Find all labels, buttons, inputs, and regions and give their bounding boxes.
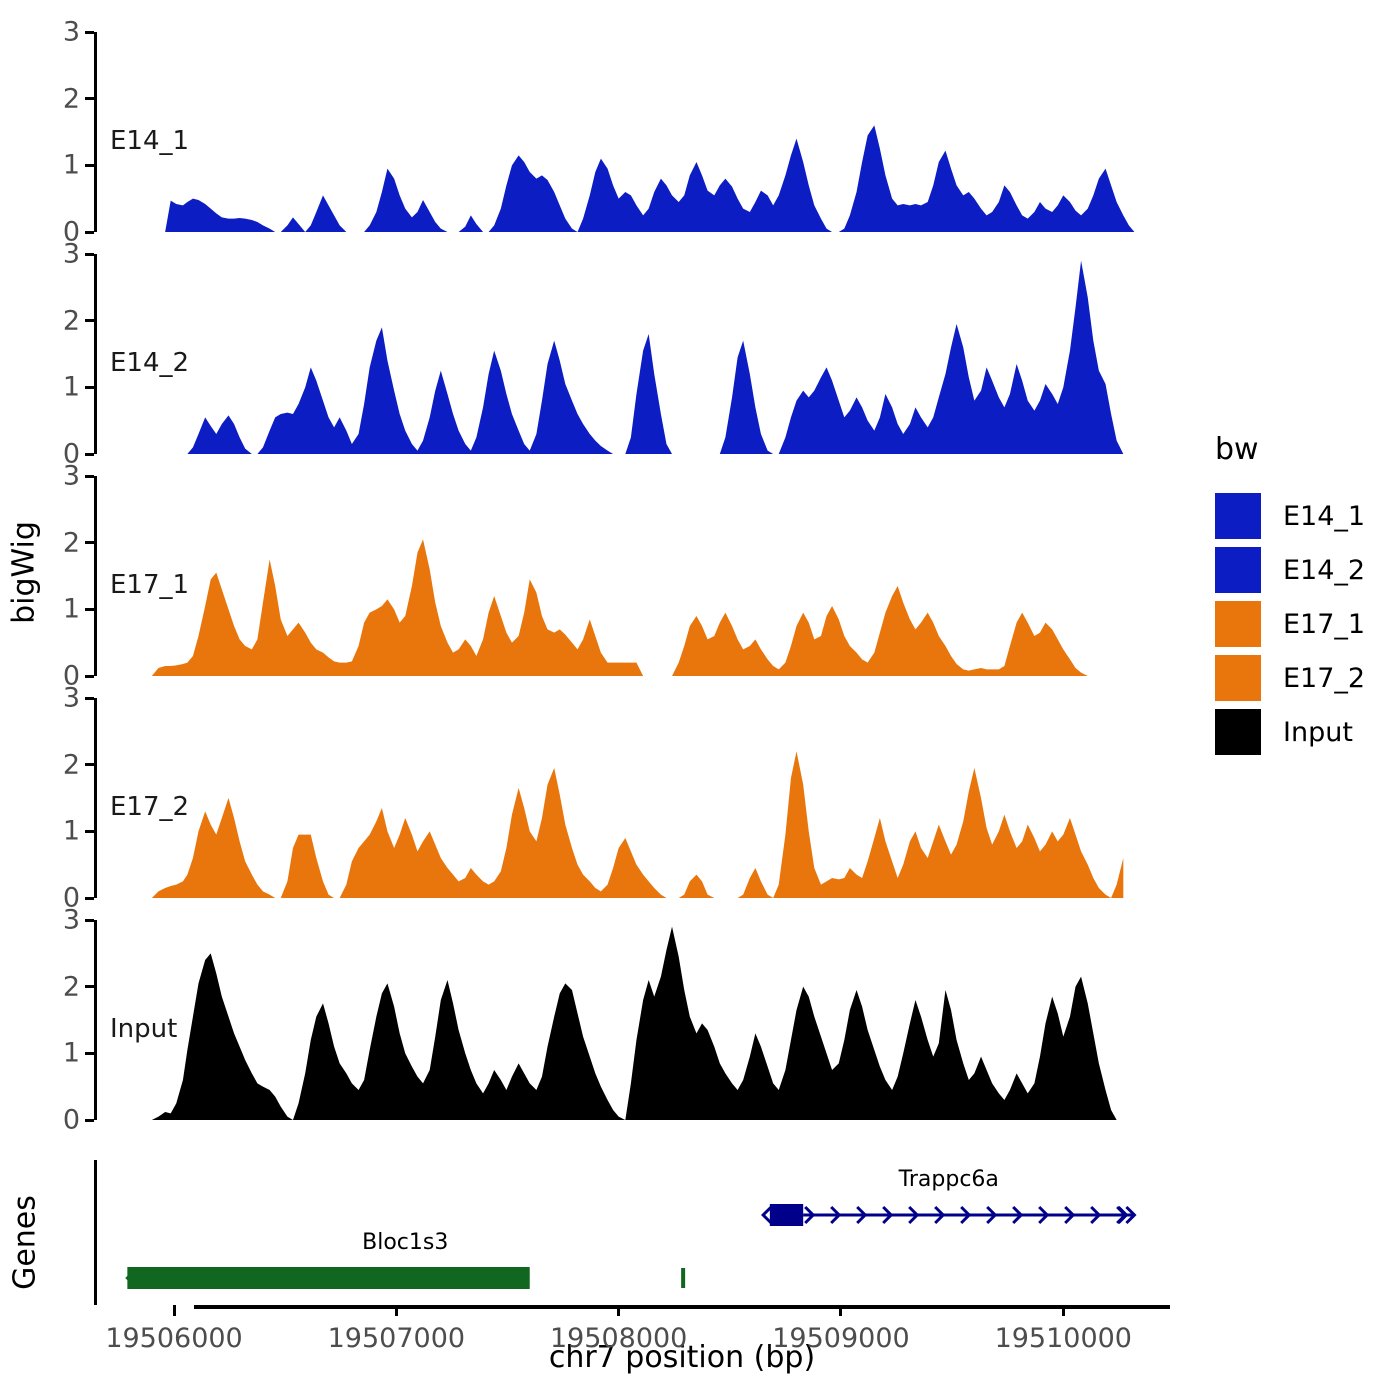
y-tick — [85, 763, 94, 766]
y-tick — [85, 453, 94, 456]
y-tick-label: 2 — [63, 749, 80, 780]
y-tick-label: 2 — [63, 305, 80, 336]
y-tick-label: 3 — [63, 905, 80, 936]
y-tick-label: 0 — [63, 1105, 80, 1136]
y-tick-label: 2 — [63, 527, 80, 558]
x-tick — [617, 1305, 620, 1316]
y-tick — [85, 164, 94, 167]
legend-swatch — [1215, 709, 1261, 755]
legend-title: bw — [1215, 432, 1365, 467]
y-tick — [85, 31, 94, 34]
signal-area-e17_1 — [94, 476, 1170, 676]
legend-swatch — [1215, 493, 1261, 539]
legend-swatch — [1215, 601, 1261, 647]
y-tick — [85, 253, 94, 256]
track-panel-e14_1: 0123E14_1 — [94, 32, 1170, 232]
y-tick-label: 3 — [63, 17, 80, 48]
legend-label: E14_2 — [1283, 555, 1365, 586]
y-tick — [85, 319, 94, 322]
y-tick — [85, 1052, 94, 1055]
y-axis-title-genes: Genes — [8, 1178, 43, 1308]
x-tick — [173, 1305, 176, 1316]
x-tick-label: 19508000 — [550, 1323, 687, 1354]
y-tick — [85, 386, 94, 389]
y-tick — [85, 830, 94, 833]
x-tick-label: 19509000 — [772, 1323, 909, 1354]
y-tick — [85, 697, 94, 700]
y-tick-label: 3 — [63, 683, 80, 714]
legend-swatch — [1215, 547, 1261, 593]
genes-panel: Trappc6aBloc1s3 — [94, 1160, 1170, 1305]
signal-area-e14_1 — [94, 32, 1170, 232]
y-tick — [85, 475, 94, 478]
gene-model-bloc1s3[interactable] — [94, 1260, 1170, 1296]
x-tick-label: 19506000 — [105, 1323, 242, 1354]
signal-area-e14_2 — [94, 254, 1170, 454]
gene-label-bloc1s3: Bloc1s3 — [362, 1230, 448, 1255]
x-axis-line — [194, 1305, 1170, 1309]
legend-label: E17_1 — [1283, 609, 1365, 640]
legend-item-e14_2[interactable]: E14_2 — [1215, 543, 1365, 597]
gene-model-trappc6a[interactable] — [94, 1197, 1170, 1233]
y-tick — [85, 1119, 94, 1122]
legend: bw E14_1E14_2E17_1E17_2Input — [1215, 432, 1365, 759]
y-tick-label: 1 — [63, 594, 80, 625]
track-panel-e14_2: 0123E14_2 — [94, 254, 1170, 454]
legend-item-e17_1[interactable]: E17_1 — [1215, 597, 1365, 651]
y-tick-label: 3 — [63, 461, 80, 492]
y-tick-label: 3 — [63, 239, 80, 270]
legend-item-e17_2[interactable]: E17_2 — [1215, 651, 1365, 705]
track-panel-e17_1: 0123E17_1 — [94, 476, 1170, 676]
y-tick — [85, 675, 94, 678]
y-tick — [85, 985, 94, 988]
legend-label: E17_2 — [1283, 663, 1365, 694]
y-tick-label: 1 — [63, 1038, 80, 1069]
legend-item-e14_1[interactable]: E14_1 — [1215, 489, 1365, 543]
y-tick-label: 1 — [63, 816, 80, 847]
track-panel-input: 0123Input — [94, 920, 1170, 1120]
x-tick — [1062, 1305, 1065, 1316]
legend-item-input[interactable]: Input — [1215, 705, 1365, 759]
signal-area-e17_2 — [94, 698, 1170, 898]
y-tick — [85, 897, 94, 900]
y-tick — [85, 541, 94, 544]
y-tick — [85, 919, 94, 922]
legend-swatch — [1215, 655, 1261, 701]
y-tick-label: 2 — [63, 971, 80, 1002]
legend-label: E14_1 — [1283, 501, 1365, 532]
legend-label: Input — [1283, 717, 1353, 748]
y-tick-label: 1 — [63, 372, 80, 403]
track-panel-e17_2: 0123E17_2 — [94, 698, 1170, 898]
y-tick-label: 1 — [63, 150, 80, 181]
x-tick-label: 19510000 — [995, 1323, 1132, 1354]
x-axis: 1950600019507000195080001950900019510000 — [94, 1305, 1170, 1365]
x-tick-label: 19507000 — [328, 1323, 465, 1354]
y-tick — [85, 231, 94, 234]
signal-area-input — [94, 920, 1170, 1120]
y-tick — [85, 97, 94, 100]
y-tick-label: 2 — [63, 83, 80, 114]
y-axis-title-bigwig: bigWig — [7, 513, 42, 633]
gene-label-trappc6a: Trappc6a — [899, 1167, 999, 1192]
y-tick — [85, 608, 94, 611]
x-tick — [395, 1305, 398, 1316]
x-tick — [839, 1305, 842, 1316]
